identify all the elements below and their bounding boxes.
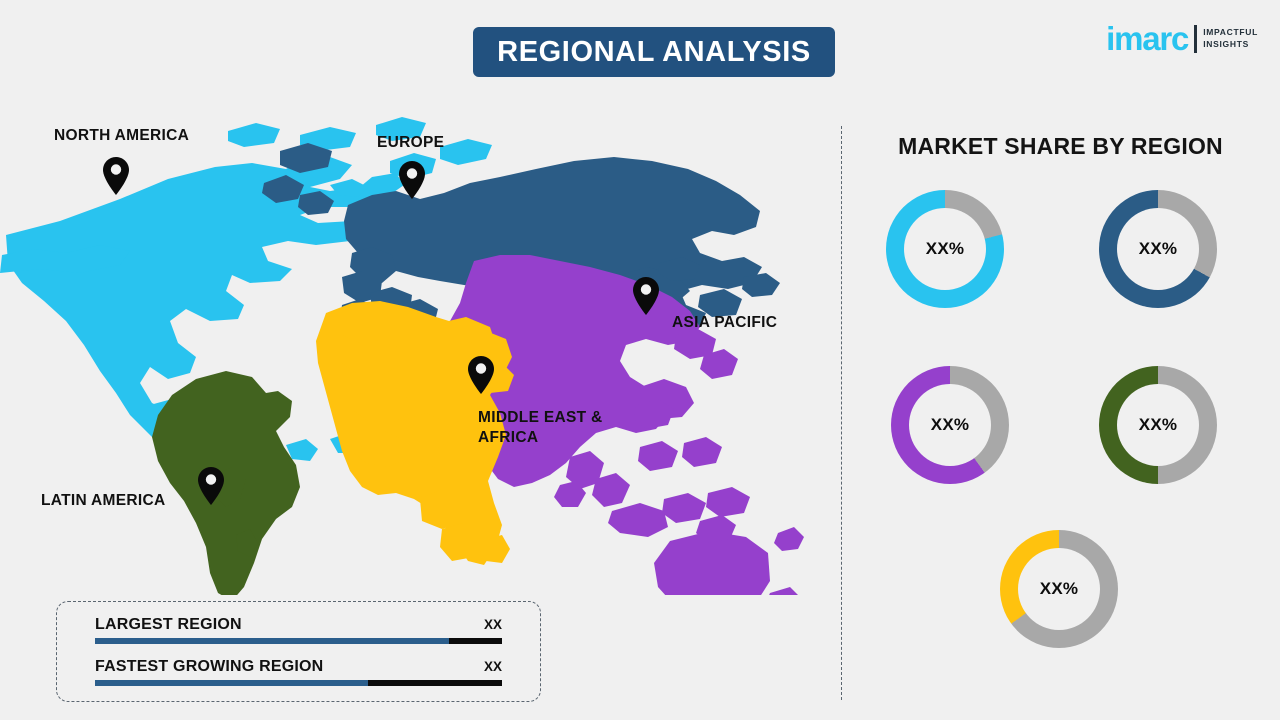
section-divider — [841, 126, 842, 700]
map-label-europe: EUROPE — [377, 133, 444, 153]
donut-latin-america: XX% — [1099, 366, 1217, 484]
donut-center-latin-america: XX% — [1117, 384, 1199, 466]
fastest-growing-region-bar-fill — [95, 680, 368, 686]
donut-value-north-america: XX% — [926, 239, 964, 259]
map-label-asia-pacific: ASIA PACIFIC — [672, 313, 777, 333]
donut-value-middle-east-africa: XX% — [1040, 579, 1078, 599]
map-pin-europe-icon[interactable] — [397, 160, 427, 200]
imarc-logo: imarc IMPACTFUL INSIGHTS — [1106, 22, 1258, 55]
page-title-banner: REGIONAL ANALYSIS — [473, 27, 835, 77]
largest-region-row: LARGEST REGION XX — [95, 616, 502, 644]
donut-center-north-america: XX% — [904, 208, 986, 290]
donut-center-europe: XX% — [1117, 208, 1199, 290]
donut-asia-pacific: XX% — [891, 366, 1009, 484]
logo-wordmark: imarc — [1106, 22, 1188, 55]
infographic-page: REGIONAL ANALYSIS imarc IMPACTFUL INSIGH… — [0, 0, 1280, 720]
map-pin-latin-america-icon[interactable] — [196, 466, 226, 506]
donut-europe: XX% — [1099, 190, 1217, 308]
page-title: REGIONAL ANALYSIS — [497, 36, 811, 69]
map-label-middle-east-africa: MIDDLE EAST & AFRICA — [478, 408, 602, 448]
fastest-growing-region-label: FASTEST GROWING REGION — [95, 658, 323, 676]
largest-region-bar-track — [95, 638, 502, 644]
map-label-latin-america: LATIN AMERICA — [41, 491, 165, 511]
logo-divider-bar — [1194, 25, 1197, 53]
donut-value-latin-america: XX% — [1139, 415, 1177, 435]
region-summary-box: LARGEST REGION XX FASTEST GROWING REGION… — [56, 601, 541, 702]
map-pin-asia-pacific-icon[interactable] — [631, 276, 661, 316]
fastest-growing-region-row: FASTEST GROWING REGION XX — [95, 658, 502, 686]
map-pin-middle-east-africa-icon[interactable] — [466, 355, 496, 395]
donut-value-europe: XX% — [1139, 239, 1177, 259]
map-region-latin-america — [152, 371, 300, 595]
donut-north-america: XX% — [886, 190, 1004, 308]
logo-tagline-line2: INSIGHTS — [1203, 39, 1258, 50]
logo-tagline: IMPACTFUL INSIGHTS — [1203, 27, 1258, 50]
largest-region-value: XX — [484, 617, 502, 632]
fastest-growing-region-bar-track — [95, 680, 502, 686]
donut-middle-east-africa: XX% — [1000, 530, 1118, 648]
largest-region-label: LARGEST REGION — [95, 616, 242, 634]
logo-tagline-line1: IMPACTFUL — [1203, 27, 1258, 38]
fastest-growing-region-value: XX — [484, 659, 502, 674]
donut-center-asia-pacific: XX% — [909, 384, 991, 466]
market-share-heading: MARKET SHARE BY REGION — [841, 133, 1280, 160]
largest-region-bar-fill — [95, 638, 449, 644]
market-share-donuts: XX% XX% XX% XX% XX% — [855, 172, 1267, 692]
map-label-north-america: NORTH AMERICA — [54, 126, 189, 146]
map-pin-north-america-icon[interactable] — [101, 156, 131, 196]
donut-value-asia-pacific: XX% — [931, 415, 969, 435]
donut-center-middle-east-africa: XX% — [1018, 548, 1100, 630]
